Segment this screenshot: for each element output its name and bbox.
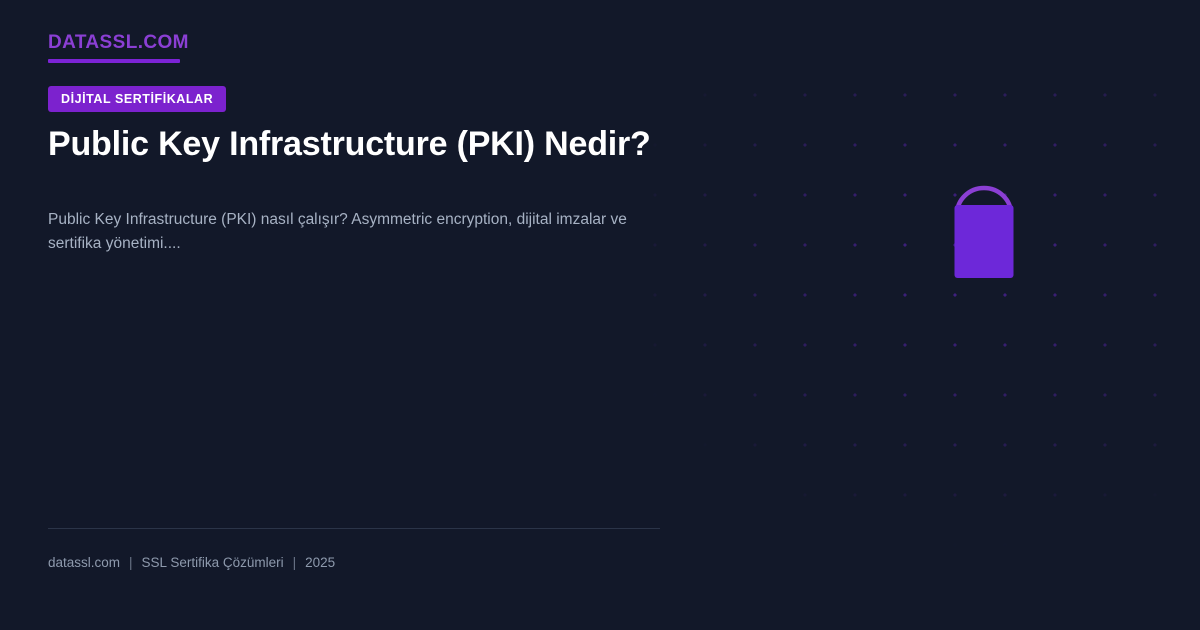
card-footer: datassl.com | SSL Sertifika Çözümleri | … — [48, 528, 660, 570]
footer-tagline: SSL Sertifika Çözümleri — [142, 556, 284, 570]
padlock-icon — [948, 180, 1020, 284]
footer-separator-2: | — [284, 556, 306, 570]
page-description: Public Key Infrastructure (PKI) nasıl ça… — [48, 208, 673, 256]
brand-mark: DATASSL.COM — [48, 33, 189, 63]
category-badge: DİJİTAL SERTİFİKALAR — [48, 86, 226, 112]
footer-site: datassl.com — [48, 556, 120, 570]
brand-underline-rule — [48, 59, 180, 63]
footer-divider — [48, 528, 660, 529]
page-title: Public Key Infrastructure (PKI) Nedir? — [48, 124, 728, 164]
footer-separator-1: | — [120, 556, 142, 570]
content-column: DATASSL.COM DİJİTAL SERTİFİKALAR Public … — [48, 0, 728, 630]
og-share-card: DATASSL.COM DİJİTAL SERTİFİKALAR Public … — [0, 0, 1200, 630]
footer-year: 2025 — [305, 556, 335, 570]
brand-name: DATASSL.COM — [48, 33, 189, 52]
footer-meta: datassl.com | SSL Sertifika Çözümleri | … — [48, 556, 660, 570]
